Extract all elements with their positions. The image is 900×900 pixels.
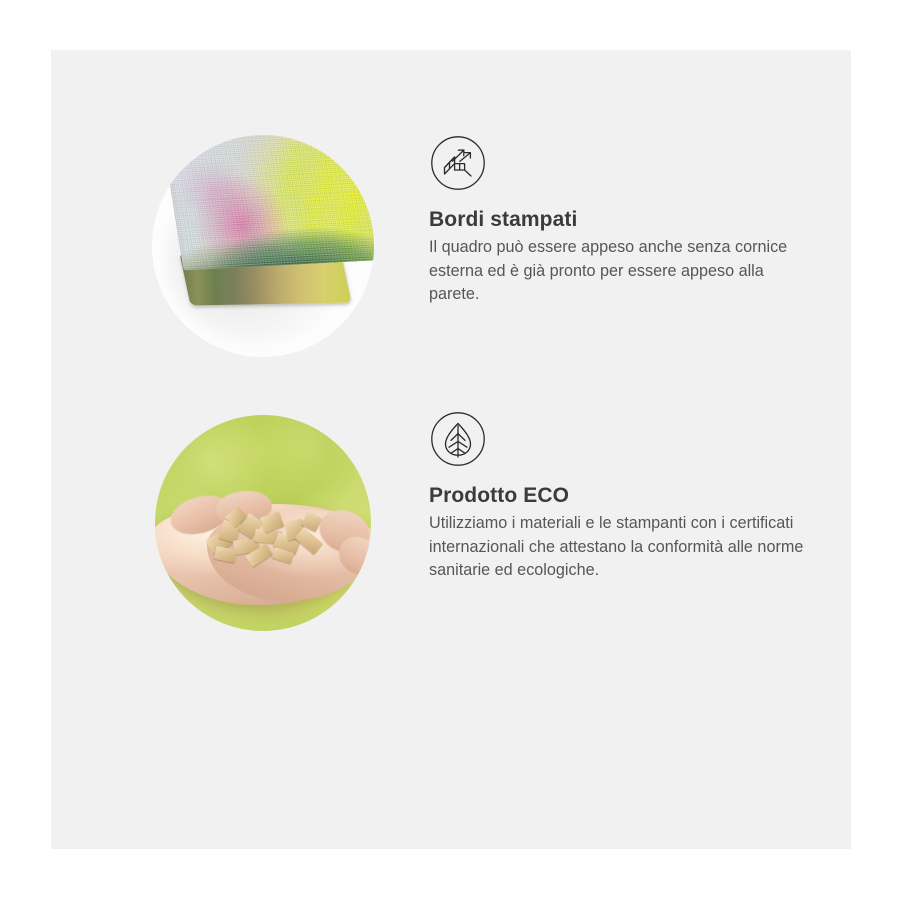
wood-chips-photo	[155, 415, 371, 631]
feature-image-bordi-stampati	[152, 135, 374, 357]
feature-description: Utilizziamo i materiali e le stampanti c…	[429, 512, 811, 583]
leaf-icon	[430, 411, 486, 467]
feature-heading: Bordi stampati	[429, 208, 577, 232]
feature-description: Il quadro può essere appeso anche senza …	[429, 236, 811, 307]
canvas-wrapped-edge-icon	[430, 135, 486, 191]
cupped-hands	[155, 501, 371, 622]
canvas-corner-photo	[152, 135, 374, 357]
content-panel: Bordi stampati Il quadro può essere appe…	[51, 50, 851, 849]
feature-heading: Prodotto ECO	[429, 484, 569, 508]
canvas-block	[162, 135, 374, 357]
wood-chip-pile	[202, 509, 333, 572]
canvas-speckle-texture	[161, 135, 374, 271]
feature-image-prodotto-eco	[155, 415, 371, 631]
canvas-printed-face	[161, 135, 374, 271]
product-feature-panel: Bordi stampati Il quadro può essere appe…	[0, 0, 900, 900]
